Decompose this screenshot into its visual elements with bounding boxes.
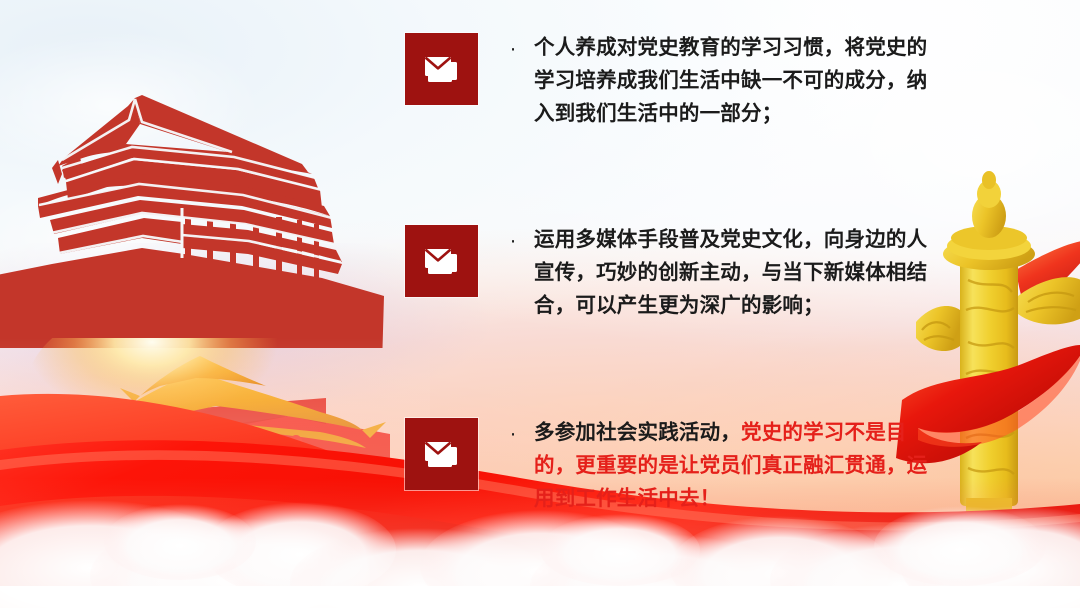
- mail-stack-icon: [421, 244, 463, 278]
- mail-stack-icon-box-2[interactable]: [405, 225, 478, 297]
- bullet-marker-1: ·: [510, 31, 534, 69]
- slide-canvas: · 个人养成对党史教育的学习习惯，将党史的学习培养成我们生活中缺一不可的成分，纳…: [0, 0, 1080, 608]
- mail-stack-icon: [421, 437, 463, 471]
- bullet-marker-2: ·: [510, 223, 534, 261]
- bullet-row-3: · 多参加社会实践活动，党史的学习不是目的，更重要的是让党员们真正融汇贯通，运用…: [405, 418, 940, 515]
- mail-stack-icon: [421, 52, 463, 86]
- bullet-content-1: · 个人养成对党史教育的学习习惯，将党史的学习培养成我们生活中缺一不可的成分，纳…: [510, 31, 938, 130]
- mail-stack-icon-box-1[interactable]: [405, 33, 478, 105]
- bullet-list: · 个人养成对党史教育的学习习惯，将党史的学习培养成我们生活中缺一不可的成分，纳…: [0, 0, 1080, 608]
- bullet-text-3: 多参加社会实践活动，党史的学习不是目的，更重要的是让党员们真正融汇贯通，运用到工…: [534, 416, 940, 515]
- bullet-marker-3: ·: [510, 416, 534, 454]
- bullet-text-1: 个人养成对党史教育的学习习惯，将党史的学习培养成我们生活中缺一不可的成分，纳入到…: [534, 31, 938, 130]
- bullet-content-2: · 运用多媒体手段普及党史文化，向身边的人宣传，巧妙的创新主动，与当下新媒体相结…: [510, 223, 938, 322]
- bullet-1-segment-0: 个人养成对党史教育的学习习惯，将党史的学习培养成我们生活中缺一不可的成分，纳入到…: [534, 35, 927, 125]
- mail-stack-icon-box-3[interactable]: [405, 418, 478, 490]
- bullet-text-2: 运用多媒体手段普及党史文化，向身边的人宣传，巧妙的创新主动，与当下新媒体相结合，…: [534, 223, 938, 322]
- bullet-row-2: · 运用多媒体手段普及党史文化，向身边的人宣传，巧妙的创新主动，与当下新媒体相结…: [405, 225, 938, 322]
- bullet-row-1: · 个人养成对党史教育的学习习惯，将党史的学习培养成我们生活中缺一不可的成分，纳…: [405, 33, 938, 130]
- bullet-content-3: · 多参加社会实践活动，党史的学习不是目的，更重要的是让党员们真正融汇贯通，运用…: [510, 416, 940, 515]
- bullet-3-segment-0: 多参加社会实践活动，: [534, 420, 741, 444]
- bullet-2-segment-0: 运用多媒体手段普及党史文化，向身边的人宣传，巧妙的创新主动，与当下新媒体相结合，…: [534, 227, 927, 317]
